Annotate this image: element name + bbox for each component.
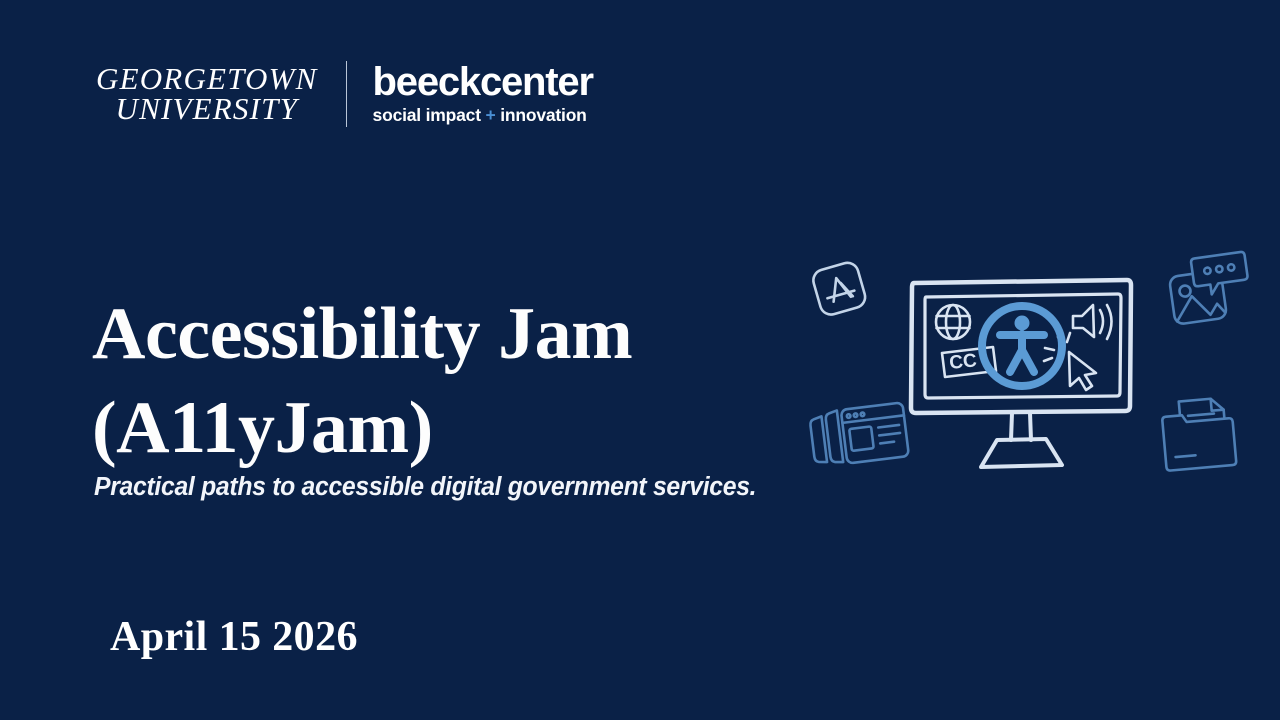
lockup-divider — [346, 61, 347, 127]
image-comment-icon — [1167, 251, 1253, 324]
globe-icon — [936, 305, 970, 339]
presentation-slide: GEORGETOWN UNIVERSITY beeckcenter social… — [0, 0, 1280, 720]
closed-caption-label: CC — [948, 350, 978, 374]
illustration-canvas: CC — [790, 240, 1260, 490]
tagline-innovation: innovation — [500, 105, 586, 125]
tagline-plus-glyph: + — [486, 105, 496, 125]
monitor-stand-base — [981, 439, 1062, 467]
logo-lockup: GEORGETOWN UNIVERSITY beeckcenter social… — [96, 52, 593, 136]
accessibility-person-icon — [982, 306, 1062, 386]
beeckcenter-name: beeckcenter — [373, 62, 593, 103]
speaker-icon — [1073, 305, 1112, 339]
georgetown-wordmark-line2: UNIVERSITY — [116, 94, 299, 124]
georgetown-university-wordmark: GEORGETOWN UNIVERSITY — [96, 64, 324, 124]
beeckcenter-logo: beeckcenter social impact + innovation — [373, 62, 593, 126]
app-store-icon — [811, 260, 868, 317]
beeckcenter-tagline: social impact + innovation — [373, 105, 593, 126]
page-title-line2: (A11yJam) — [92, 382, 792, 476]
monitor-stand-base-edge — [982, 465, 1062, 467]
event-date: April 15 2026 — [110, 613, 358, 661]
folder-document-icon — [1161, 397, 1237, 471]
stacked-cards-icon — [809, 402, 909, 467]
monitor-stand-neck — [1011, 413, 1031, 440]
page-title-line1: Accessibility Jam — [92, 288, 792, 382]
page-subtitle: Practical paths to accessible digital go… — [94, 473, 812, 502]
accessibility-illustration: CC — [790, 240, 1260, 490]
georgetown-wordmark-line1: GEORGETOWN — [96, 64, 318, 94]
tagline-social-impact: social impact — [373, 105, 481, 125]
cursor-click-icon — [1044, 333, 1096, 390]
page-title: Accessibility Jam (A11yJam) — [92, 288, 792, 476]
